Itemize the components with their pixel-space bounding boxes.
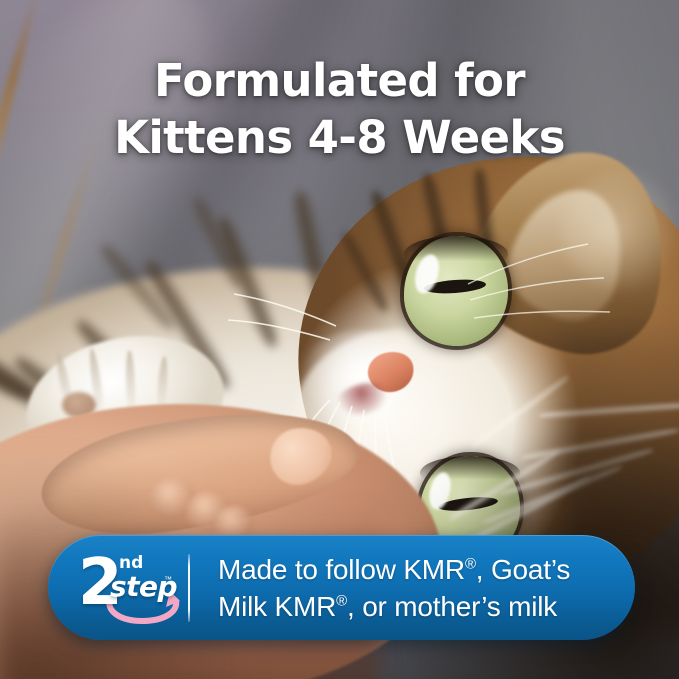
badge-message-line-2: Milk KMR®, or mother’s milk [218,588,635,625]
badge-line2-text-a: Milk KMR [218,591,336,622]
badge-line2-text-b: , or mother’s milk [347,591,557,622]
page-title: Formulated for Kittens 4-8 Weeks [0,52,679,166]
registered-mark-icon: ® [336,592,347,609]
second-step-badge: 2 nd step ™ Made to follow KMR®, Goat’s … [48,535,635,640]
product-lifestyle-image: Formulated for Kittens 4-8 Weeks 2 nd st… [0,0,679,679]
badge-divider [188,554,190,622]
badge-line1-text-a: Made to follow KMR [218,554,465,585]
registered-mark-icon: ® [465,555,476,572]
badge-line1-text-b: , Goat’s [476,554,570,585]
second-step-logo: 2 nd step ™ [48,535,188,640]
headline-line-1: Formulated for [0,52,679,109]
badge-message: Made to follow KMR®, Goat’s Milk KMR®, o… [218,551,635,625]
headline-line-2: Kittens 4-8 Weeks [0,109,679,166]
badge-message-line-1: Made to follow KMR®, Goat’s [218,551,635,588]
logo-trademark-symbol: ™ [164,575,172,584]
